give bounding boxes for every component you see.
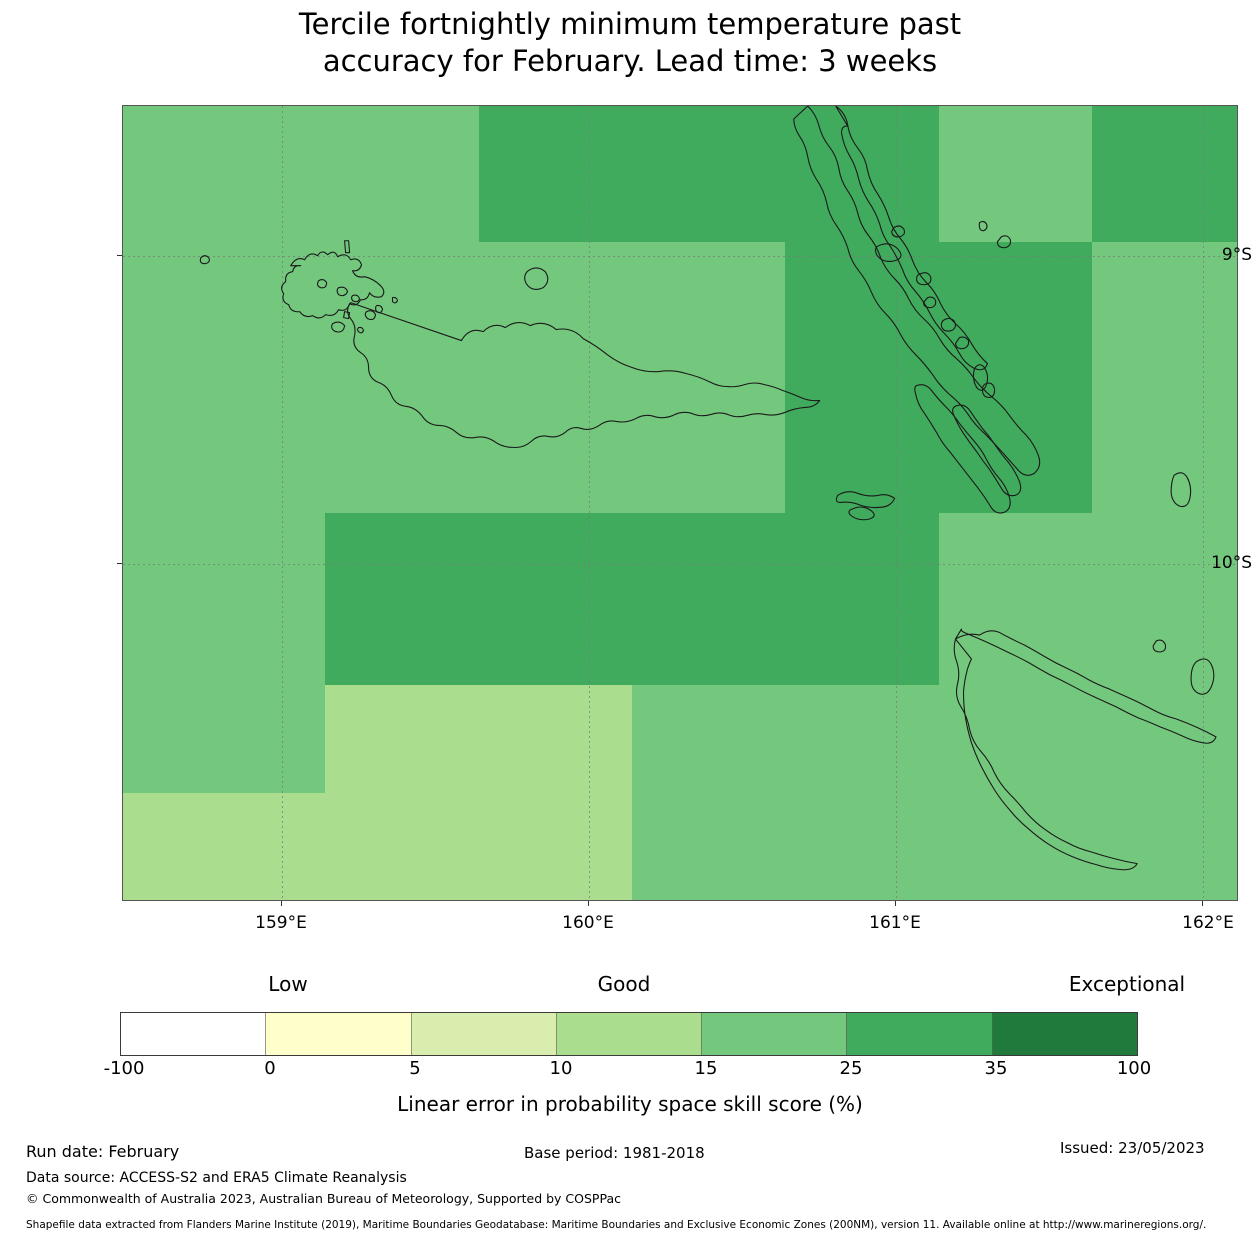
colorbar-segment: [702, 1013, 847, 1055]
heatmap-cell: [1092, 106, 1238, 242]
colorbar-tick-15: 15: [695, 1058, 718, 1079]
colorbar-gradient[interactable]: [120, 1012, 1138, 1056]
heatmap-cell: [939, 106, 1092, 242]
xtick-label-160E: 160°E: [562, 913, 614, 933]
footer-copyright: © Commonwealth of Australia 2023, Austra…: [26, 1191, 621, 1206]
gridline-160E: [589, 106, 590, 900]
heatmap-cell: [123, 513, 325, 685]
colorbar-category-good: Good: [598, 972, 651, 996]
heatmap-cell: [785, 377, 1092, 513]
colorbar-tick--100: -100: [104, 1058, 145, 1079]
heatmap-cell: [325, 513, 785, 685]
colorbar-segment: [121, 1013, 266, 1055]
gridline-161E: [896, 106, 897, 900]
heatmap-cell: [123, 377, 479, 513]
ytick-label-10S: 10°S: [1211, 553, 1252, 573]
xtick-mark-159E: [281, 901, 282, 906]
heatmap-cell: [632, 793, 1238, 901]
heatmap-cell: [123, 793, 632, 901]
heatmap-cell: [785, 242, 1092, 378]
colorbar-tick-5: 5: [409, 1058, 420, 1079]
colorbar-category-low: Low: [268, 972, 307, 996]
colorbar-category-exceptional: Exceptional: [1069, 972, 1185, 996]
heatmap-cell: [1092, 377, 1238, 513]
heatmap-cell: [632, 685, 1238, 794]
heatmap-cell: [325, 106, 478, 242]
colorbar-tick-0: 0: [264, 1058, 275, 1079]
colorbar-tick-35: 35: [985, 1058, 1008, 1079]
colorbar-segment: [557, 1013, 702, 1055]
gridline-10S: [123, 564, 1237, 565]
colorbar-tick-100: 100: [1117, 1058, 1151, 1079]
xtick-label-162E: 162°E: [1182, 913, 1234, 933]
gridline-162E: [1203, 106, 1204, 900]
heatmap-cell: [939, 513, 1238, 685]
colorbar-title: Linear error in probability space skill …: [0, 1092, 1260, 1116]
title-line-2: accuracy for February. Lead time: 3 week…: [0, 43, 1260, 80]
colorbar-segment: [993, 1013, 1137, 1055]
colorbar-segment: [266, 1013, 411, 1055]
colorbar[interactable]: [120, 1012, 1138, 1056]
gridline-159E: [282, 106, 283, 900]
footer-run-date: Run date: February: [26, 1142, 179, 1161]
heatmap-cells: [123, 106, 1237, 900]
heatmap-cell: [785, 106, 938, 242]
xtick-mark-162E: [1202, 901, 1203, 906]
map-plot-area[interactable]: [122, 105, 1238, 901]
heatmap-cell: [785, 513, 938, 685]
heatmap-cell: [479, 377, 786, 513]
xtick-label-161E: 161°E: [869, 913, 921, 933]
heatmap-cell: [325, 685, 632, 794]
heatmap-cell: [479, 106, 786, 242]
ytick-label-9S: 9°S: [1222, 245, 1252, 265]
ytick-mark-9S: [117, 255, 122, 256]
colorbar-tick-25: 25: [840, 1058, 863, 1079]
heatmap-cell: [479, 242, 786, 378]
page-title: Tercile fortnightly minimum temperature …: [0, 6, 1260, 80]
xtick-mark-160E: [588, 901, 589, 906]
gridline-9S: [123, 256, 1237, 257]
ytick-mark-10S: [117, 563, 122, 564]
heatmap-cell: [1092, 242, 1238, 378]
colorbar-segment: [847, 1013, 992, 1055]
footer-base-period: Base period: 1981-2018: [524, 1144, 705, 1162]
colorbar-segment: [412, 1013, 557, 1055]
figure: Tercile fortnightly minimum temperature …: [0, 0, 1260, 1260]
title-line-1: Tercile fortnightly minimum temperature …: [0, 6, 1260, 43]
footer-shapefile-attribution: Shapefile data extracted from Flanders M…: [26, 1218, 1226, 1232]
xtick-mark-161E: [895, 901, 896, 906]
xtick-label-159E: 159°E: [255, 913, 307, 933]
footer-data-source: Data source: ACCESS-S2 and ERA5 Climate …: [26, 1170, 407, 1186]
heatmap-cell: [123, 242, 479, 378]
colorbar-tick-10: 10: [550, 1058, 573, 1079]
heatmap-cell: [123, 106, 325, 242]
footer-issued-date: Issued: 23/05/2023: [1060, 1139, 1205, 1157]
